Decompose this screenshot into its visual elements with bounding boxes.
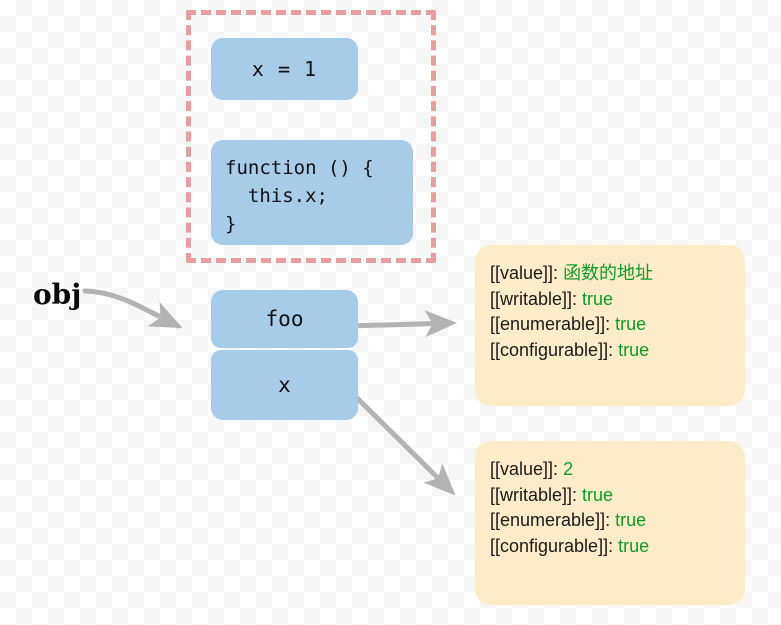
descriptor-line: [[enumerable]]: true: [490, 312, 745, 338]
descriptor-line: [[value]]: 函数的地址: [490, 261, 745, 287]
descriptor-value: 2: [563, 459, 573, 479]
descriptor-panel-x: [[value]]: 2 [[writable]]: true [[enumer…: [475, 441, 745, 605]
function-code-block: function () { this.x; }: [211, 140, 413, 245]
descriptor-key: [[writable]]:: [490, 485, 577, 505]
descriptor-line: [[writable]]: true: [490, 287, 745, 313]
assignment-code-block: x = 1: [211, 38, 358, 100]
descriptor-line: [[configurable]]: true: [490, 534, 745, 560]
descriptor-key: [[value]]:: [490, 263, 558, 283]
descriptor-value: true: [582, 289, 613, 309]
object-slot-x: x: [211, 350, 358, 420]
descriptor-key: [[enumerable]]:: [490, 314, 610, 334]
diagram-canvas: x = 1 function () { this.x; } obj foo x …: [0, 0, 781, 625]
descriptor-line: [[writable]]: true: [490, 483, 745, 509]
descriptor-key: [[enumerable]]:: [490, 510, 610, 530]
obj-label: obj: [33, 278, 81, 311]
descriptor-value: true: [615, 314, 646, 334]
descriptor-key: [[configurable]]:: [490, 340, 613, 360]
descriptor-value: true: [618, 340, 649, 360]
x-to-descriptor-arrow: [348, 389, 452, 492]
descriptor-value: true: [582, 485, 613, 505]
descriptor-value: true: [615, 510, 646, 530]
descriptor-key: [[writable]]:: [490, 289, 577, 309]
object-slot-foo-label: foo: [266, 307, 304, 331]
descriptor-line: [[configurable]]: true: [490, 338, 745, 364]
descriptor-line: [[value]]: 2: [490, 457, 745, 483]
object-slot-foo: foo: [211, 290, 358, 348]
obj-to-object-arrow: [85, 291, 178, 326]
descriptor-key: [[configurable]]:: [490, 536, 613, 556]
descriptor-panel-foo: [[value]]: 函数的地址 [[writable]]: true [[en…: [475, 245, 745, 406]
object-slot-x-label: x: [278, 373, 291, 397]
foo-to-descriptor-arrow: [349, 323, 452, 326]
descriptor-line: [[enumerable]]: true: [490, 508, 745, 534]
descriptor-value: true: [618, 536, 649, 556]
descriptor-key: [[value]]:: [490, 459, 558, 479]
descriptor-value: 函数的地址: [563, 263, 653, 283]
